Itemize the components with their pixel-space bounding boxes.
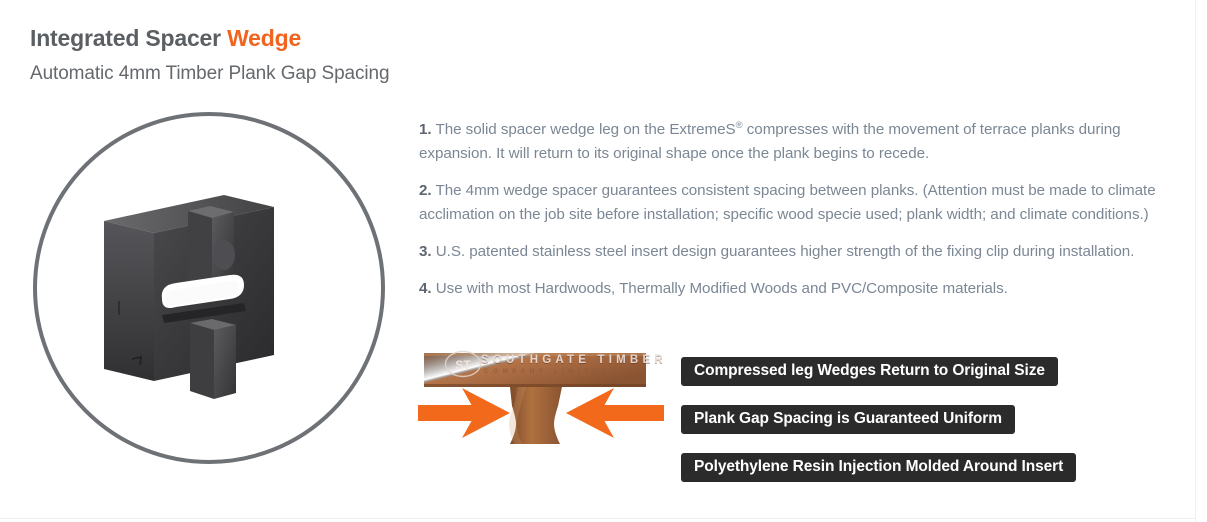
feature-text: The 4mm wedge spacer guarantees consiste… xyxy=(419,182,1156,223)
feature-item-2: 2. The 4mm wedge spacer guarantees consi… xyxy=(419,179,1177,227)
feature-list: 1. The solid spacer wedge leg on the Ext… xyxy=(419,118,1177,301)
feature-text: U.S. patented stainless steel insert des… xyxy=(436,243,1135,260)
spacer-wedge-clip-illustration xyxy=(84,163,334,413)
product-image-frame xyxy=(33,112,385,464)
callout-badge: Polyethylene Resin Injection Molded Arou… xyxy=(681,453,1076,482)
page-title-main: Integrated Spacer xyxy=(30,25,221,51)
feature-number: 3. xyxy=(419,243,432,260)
brand-name: SOUTHGATE TIMBER xyxy=(481,354,667,366)
callout-badge-list: Compressed leg Wedges Return to Original… xyxy=(681,357,1076,482)
feature-text-part1: The solid spacer wedge leg on the Extrem… xyxy=(435,121,735,138)
arrow-right-icon xyxy=(566,388,664,438)
registered-mark-icon: ® xyxy=(736,120,743,131)
page-bottom-divider xyxy=(0,518,1195,519)
compression-diagram: ST SOUTHGATE TIMBER COMPANY LIMITED xyxy=(418,344,664,462)
callout-badge: Plank Gap Spacing is Guaranteed Uniform xyxy=(681,405,1015,434)
feature-item-1: 1. The solid spacer wedge leg on the Ext… xyxy=(419,118,1177,166)
product-feature-page: Integrated Spacer Wedge Automatic 4mm Ti… xyxy=(0,0,1207,522)
page-title-accent: Wedge xyxy=(227,25,301,51)
page-right-edge xyxy=(1195,0,1196,522)
svg-text:ST: ST xyxy=(455,358,471,372)
southgate-logo-mark-icon: ST xyxy=(444,349,482,379)
feature-number: 4. xyxy=(419,280,432,297)
page-subtitle: Automatic 4mm Timber Plank Gap Spacing xyxy=(30,63,389,85)
feature-item-3: 3. U.S. patented stainless steel insert … xyxy=(419,240,1177,264)
feature-item-4: 4. Use with most Hardwoods, Thermally Mo… xyxy=(419,277,1177,301)
feature-number: 1. xyxy=(419,121,432,138)
arrow-left-icon xyxy=(418,388,510,438)
feature-number: 2. xyxy=(419,182,432,199)
page-title: Integrated Spacer Wedge xyxy=(30,25,301,52)
brand-subtitle: COMPANY LIMITED xyxy=(484,368,611,375)
feature-text: Use with most Hardwoods, Thermally Modif… xyxy=(436,280,1008,297)
callout-badge: Compressed leg Wedges Return to Original… xyxy=(681,357,1058,386)
